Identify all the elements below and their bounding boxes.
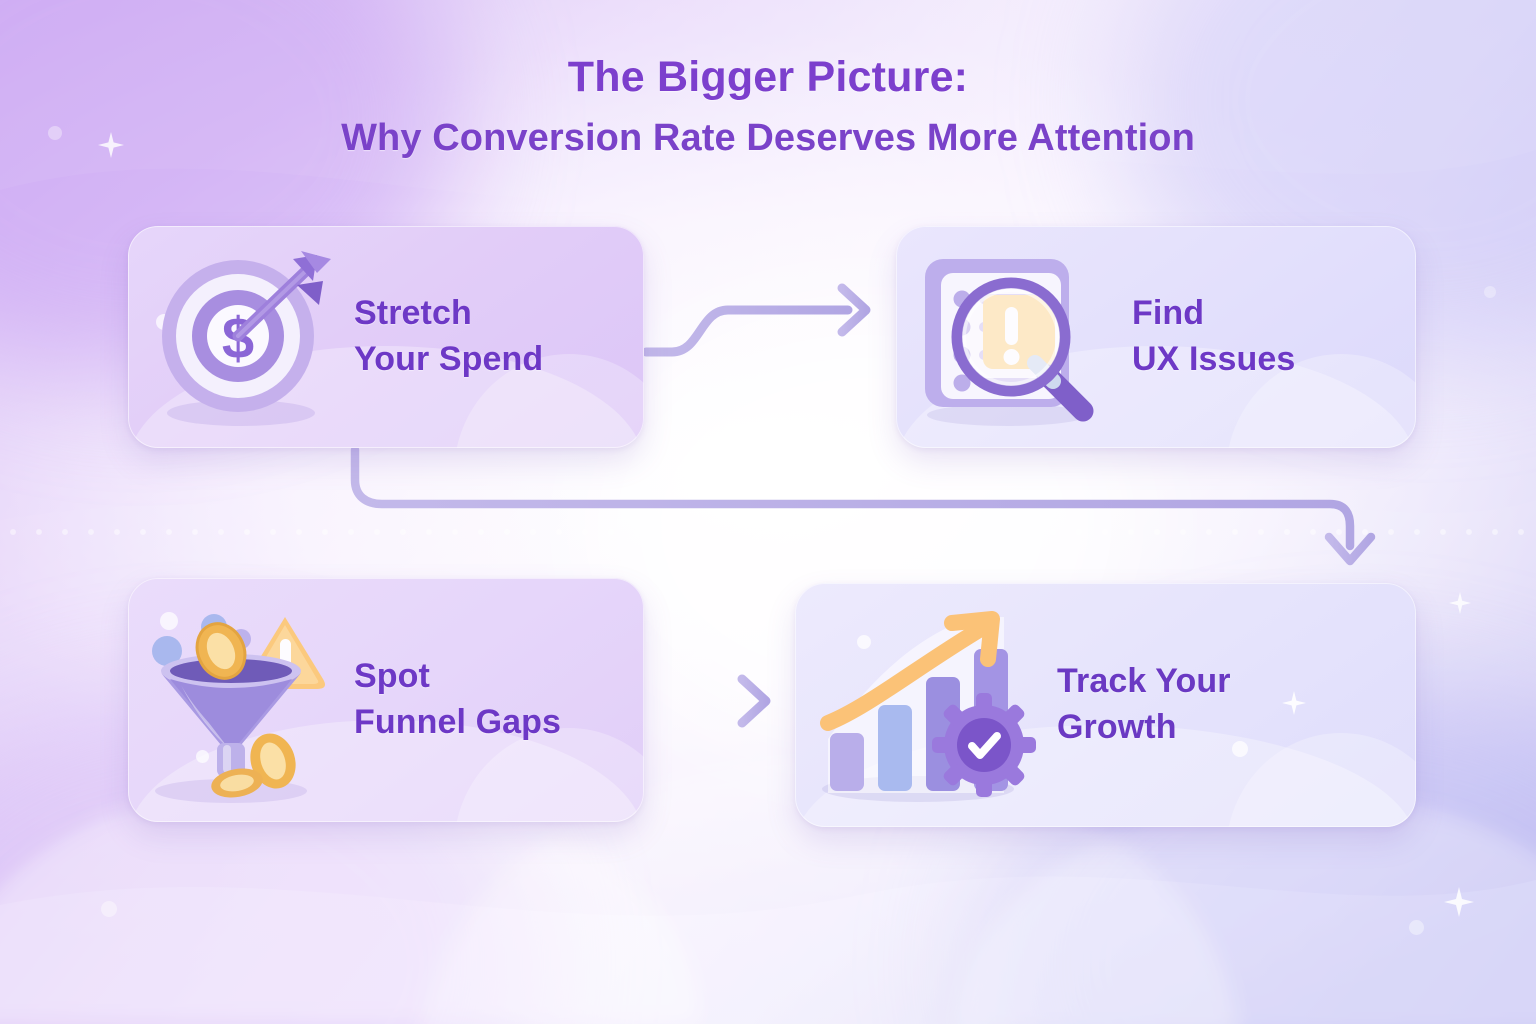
target-dollar-dart-icon: $ <box>128 226 354 448</box>
card-track-your-growth[interactable]: Track Your Growth <box>795 583 1416 827</box>
connector-funnel-to-track <box>648 679 766 723</box>
card-label-stretch-your-spend: Stretch Your Spend <box>354 291 543 383</box>
bar-chart-growth-gear-check-icon <box>795 583 1057 827</box>
magnifier-checklist-warning-icon <box>896 226 1132 448</box>
infographic-canvas: The Bigger Picture: Why Conversion Rate … <box>0 0 1536 1024</box>
decor-dot-2 <box>101 901 117 917</box>
title-line-1: The Bigger Picture: <box>0 52 1536 103</box>
connector-stretch-to-find <box>646 288 866 352</box>
decor-dot-6 <box>1484 286 1496 298</box>
sparkle-icon-3 <box>1449 592 1471 614</box>
sparkle-icon-card4 <box>1282 691 1306 715</box>
card-label-spot-funnel-gaps: Spot Funnel Gaps <box>354 654 561 746</box>
connector-stretch-to-track <box>355 450 1371 561</box>
card-spot-funnel-gaps[interactable]: Spot Funnel Gaps <box>128 578 644 822</box>
title-line-2: Why Conversion Rate Deserves More Attent… <box>0 116 1536 162</box>
card-label-track-your-growth: Track Your Growth <box>1057 659 1231 751</box>
card-label-find-ux-issues: Find UX Issues <box>1132 291 1295 383</box>
page-title: The Bigger Picture: Why Conversion Rate … <box>0 52 1536 161</box>
background-hill-right <box>956 794 1536 1024</box>
card-stretch-your-spend[interactable]: $ Stretch Your Spend <box>128 226 644 448</box>
funnel-coins-warning-icon <box>128 578 354 822</box>
background-dotted-band <box>0 524 1536 540</box>
decor-dot-3 <box>1409 920 1424 935</box>
card-find-ux-issues[interactable]: Find UX Issues <box>896 226 1416 448</box>
sparkle-icon-2 <box>1444 887 1474 917</box>
